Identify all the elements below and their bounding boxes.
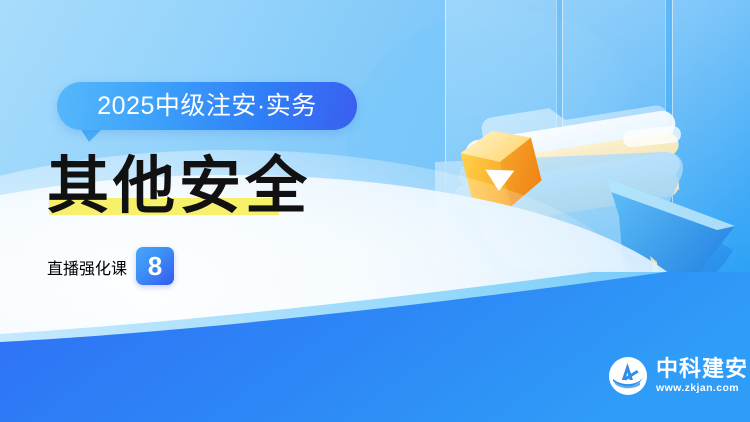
headline-line-1: 其他安全 — [47, 150, 517, 222]
headline: 其他安全 直播强化课8 — [47, 150, 517, 306]
content-layer: 2025中级注安·实务 其他安全 直播强化课8 — [0, 0, 750, 422]
course-badge: 2025中级注安·实务 — [57, 82, 357, 130]
badge-tail-icon — [80, 128, 103, 142]
course-number-badge: 8 — [136, 247, 174, 285]
headline-line-1-text: 其他安全 — [47, 149, 311, 222]
course-badge-label: 2025中级注安·实务 — [97, 94, 316, 119]
course-poster: 2025中级注安·实务 其他安全 直播强化课8 — [0, 0, 750, 422]
brand-logo: 中科建安 www.zkjan.com — [608, 356, 748, 396]
brand-url: www.zkjan.com — [656, 381, 748, 395]
headline-line-2-text: 直播强化课 — [47, 261, 127, 278]
person-swoosh-circle-icon — [608, 356, 648, 396]
brand-text: 中科建安 www.zkjan.com — [656, 358, 748, 395]
brand-name: 中科建安 — [656, 358, 748, 381]
headline-line-2: 直播强化课8 — [47, 234, 517, 306]
